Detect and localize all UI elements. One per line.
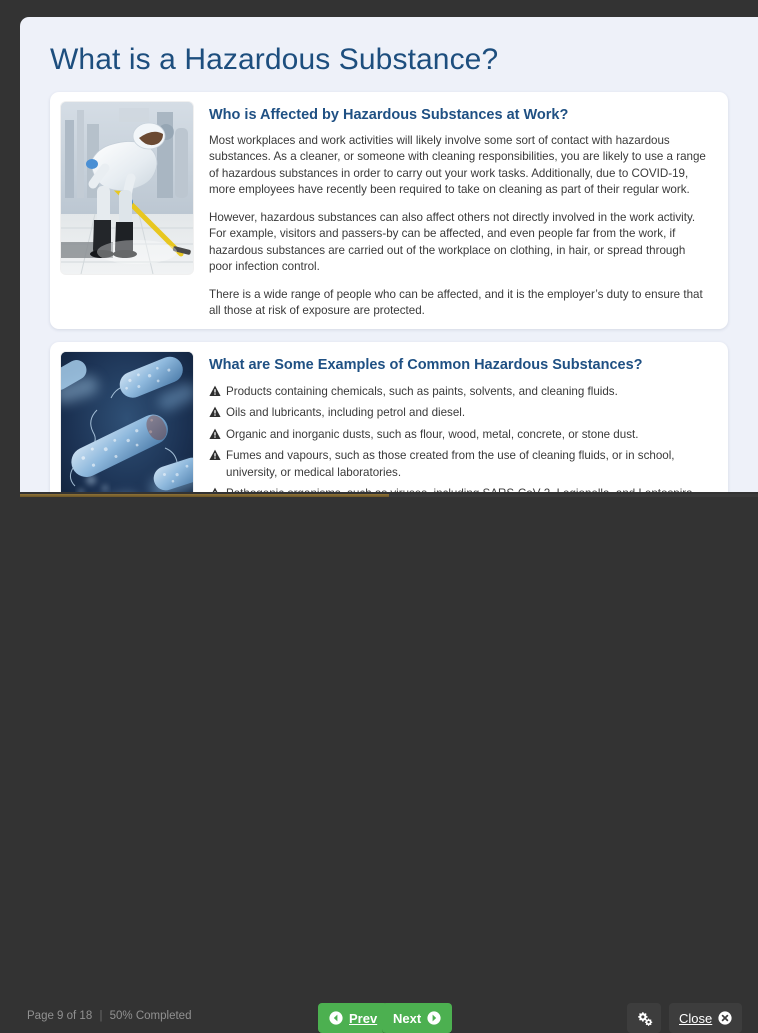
cleaner-photo bbox=[61, 102, 193, 274]
card-heading: What are Some Examples of Common Hazardo… bbox=[209, 357, 710, 374]
paragraph: However, hazardous substances can also a… bbox=[209, 210, 710, 276]
paragraph: Most workplaces and work activities will… bbox=[209, 133, 710, 199]
list-item: Oils and lubricants, including petrol an… bbox=[209, 405, 710, 421]
list-item-text: Pathogenic organisms, such as viruses, i… bbox=[226, 487, 696, 492]
close-button-label: Close bbox=[679, 1011, 712, 1026]
list-item-text: Oils and lubricants, including petrol an… bbox=[226, 406, 465, 419]
content-card-who-is-affected: Who is Affected by Hazardous Substances … bbox=[50, 92, 728, 330]
prev-button[interactable]: Prev bbox=[318, 1003, 388, 1033]
prev-button-label: Prev bbox=[349, 1011, 377, 1026]
completion-label: 50% Completed bbox=[110, 1010, 192, 1022]
next-button-label: Next bbox=[393, 1011, 421, 1026]
settings-button[interactable] bbox=[627, 1003, 661, 1033]
status-divider: | bbox=[95, 1010, 106, 1022]
paragraph: There is a wide range of people who can … bbox=[209, 287, 710, 320]
content-card-common-examples: What are Some Examples of Common Hazardo… bbox=[50, 342, 728, 492]
warning-triangle-icon bbox=[209, 385, 221, 397]
next-button[interactable]: Next bbox=[382, 1003, 452, 1033]
cleaner-illustration bbox=[61, 102, 193, 274]
warning-triangle-icon bbox=[209, 406, 221, 418]
player-footer-bar: Page 9 of 18 | 50% Completed Prev Next bbox=[0, 497, 758, 560]
cogs-icon bbox=[636, 1011, 653, 1026]
list-item: Fumes and vapours, such as those created… bbox=[209, 448, 710, 481]
warning-triangle-icon bbox=[209, 449, 221, 461]
times-circle-icon bbox=[718, 1011, 732, 1025]
course-player-frame: What is a Hazardous Substance? bbox=[0, 0, 758, 560]
page-status: Page 9 of 18 | 50% Completed bbox=[27, 1010, 191, 1022]
card-body: What are Some Examples of Common Hazardo… bbox=[193, 352, 718, 492]
bacteria-illustration bbox=[61, 352, 193, 492]
list-item: Products containing chemicals, such as p… bbox=[209, 384, 710, 400]
arrow-left-circle-icon bbox=[329, 1011, 343, 1025]
bacteria-photo bbox=[61, 352, 193, 492]
card-body: Who is Affected by Hazardous Substances … bbox=[193, 102, 718, 320]
hazard-examples-list: Products containing chemicals, such as p… bbox=[209, 384, 710, 492]
card-heading: Who is Affected by Hazardous Substances … bbox=[209, 107, 710, 124]
list-item-text: Products containing chemicals, such as p… bbox=[226, 385, 618, 398]
list-item: Organic and inorganic dusts, such as flo… bbox=[209, 427, 710, 443]
warning-triangle-icon bbox=[209, 487, 221, 492]
arrow-right-circle-icon bbox=[427, 1011, 441, 1025]
list-item-text: Organic and inorganic dusts, such as flo… bbox=[226, 428, 638, 441]
warning-triangle-icon bbox=[209, 428, 221, 440]
list-item-text: Fumes and vapours, such as those created… bbox=[226, 449, 675, 478]
list-item: Pathogenic organisms, such as viruses, i… bbox=[209, 486, 710, 492]
page-title: What is a Hazardous Substance? bbox=[20, 17, 758, 78]
slide-content-area: What is a Hazardous Substance? bbox=[20, 17, 758, 492]
page-number-label: Page 9 of 18 bbox=[27, 1010, 92, 1022]
close-button[interactable]: Close bbox=[669, 1003, 742, 1033]
